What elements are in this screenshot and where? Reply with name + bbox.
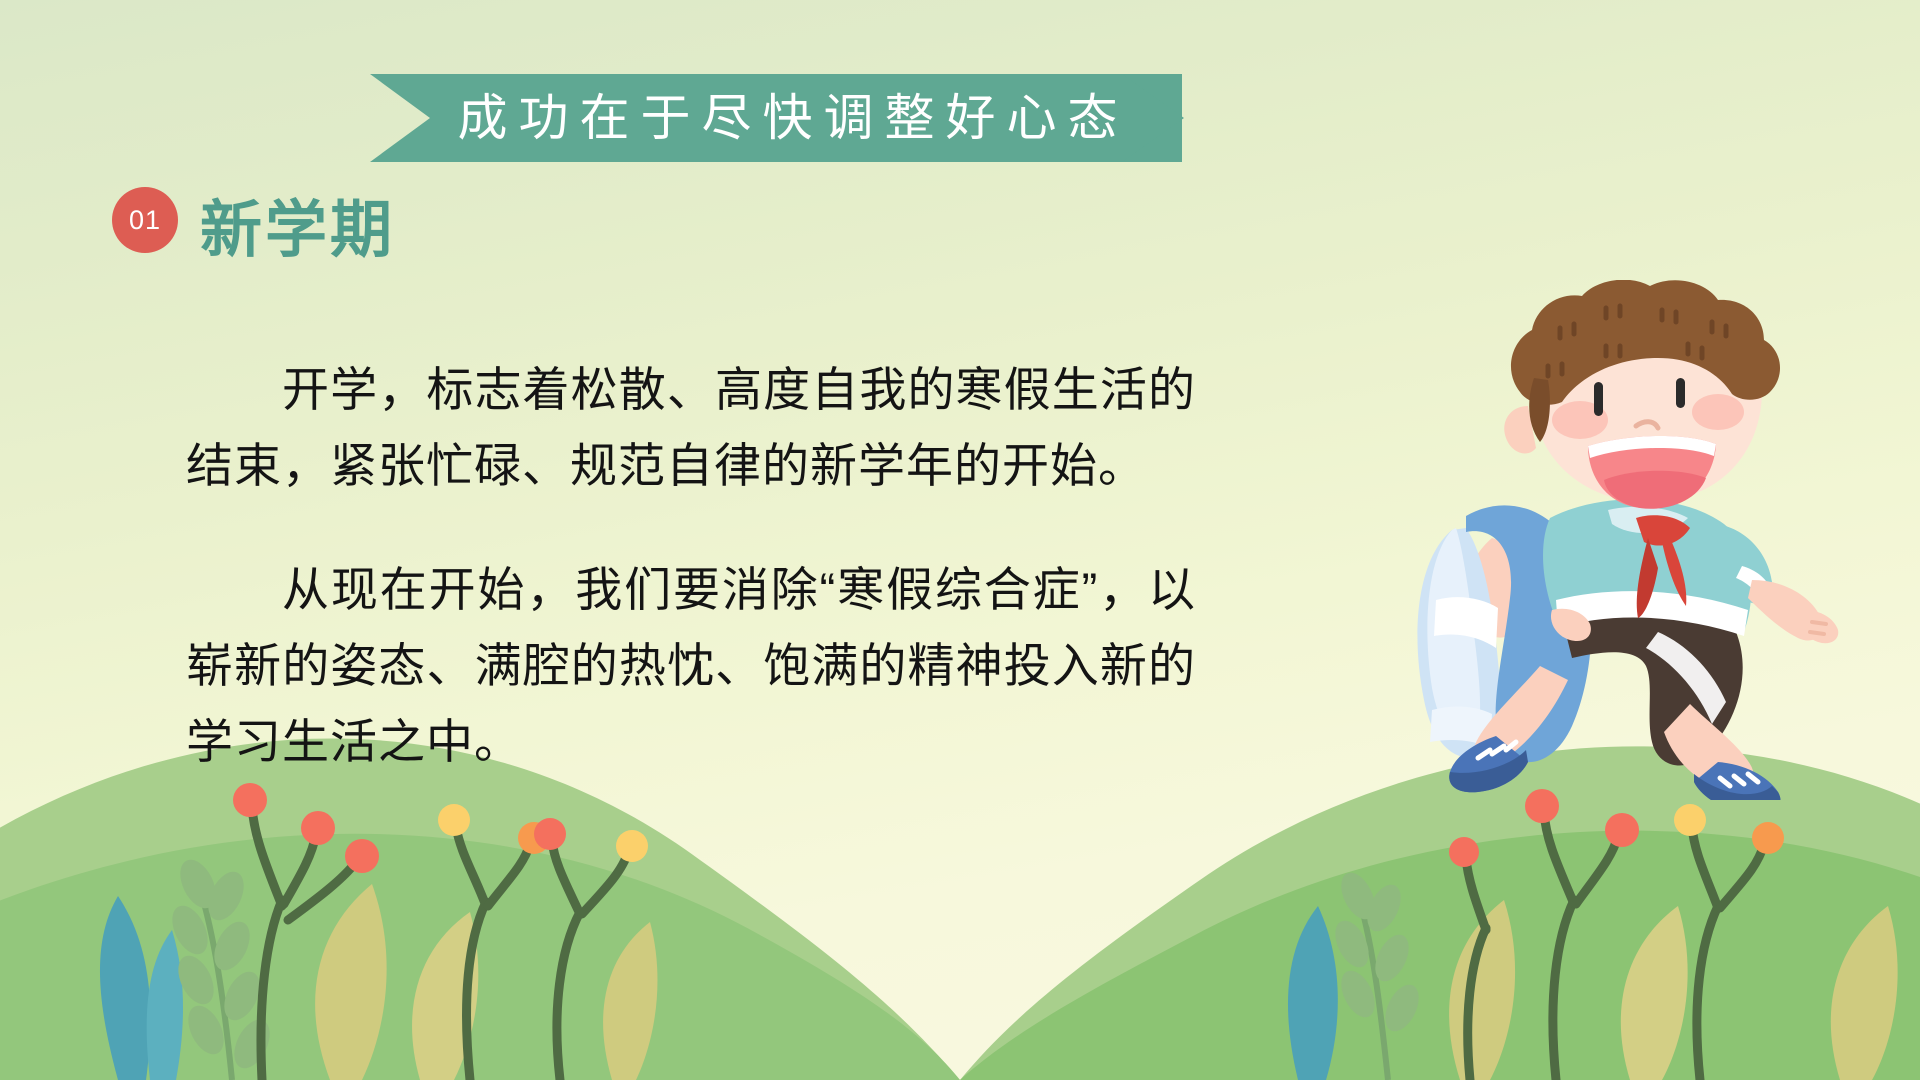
body-copy: 开学，标志着松散、高度自我的寒假生活的结束，紧张忙碌、规范自律的新学年的开始。 …: [186, 352, 1196, 780]
berry: [301, 811, 335, 845]
section-title: 新学期: [200, 200, 395, 262]
berry: [1449, 837, 1479, 867]
berry: [345, 839, 379, 873]
berry: [233, 783, 267, 817]
berry: [616, 830, 648, 862]
title-ribbon: 成功在于尽快调整好心态: [370, 74, 1182, 162]
berry: [438, 804, 470, 836]
running-schoolboy-illustration: [1400, 280, 1880, 800]
eye-left: [1594, 382, 1603, 416]
berry: [518, 822, 550, 854]
berry: [1605, 813, 1639, 847]
section-number-badge: 01: [112, 187, 178, 253]
berry: [1752, 822, 1784, 854]
slide-canvas: 成功在于尽快调整好心态 01 新学期 开学，标志着松散、高度自我的寒假生活的结束…: [0, 0, 1920, 1080]
eye-right: [1676, 378, 1685, 408]
paragraph-1: 开学，标志着松散、高度自我的寒假生活的结束，紧张忙碌、规范自律的新学年的开始。: [186, 352, 1196, 504]
cheek-right: [1692, 394, 1744, 430]
banner-title: 成功在于尽快调整好心态: [414, 93, 1139, 143]
berry: [1674, 804, 1706, 836]
section-heading: 01 新学期: [112, 178, 395, 262]
berry: [534, 818, 566, 850]
paragraph-2: 从现在开始，我们要消除“寒假综合症”，以崭新的姿态、满腔的热忱、饱满的精神投入新…: [186, 552, 1196, 780]
